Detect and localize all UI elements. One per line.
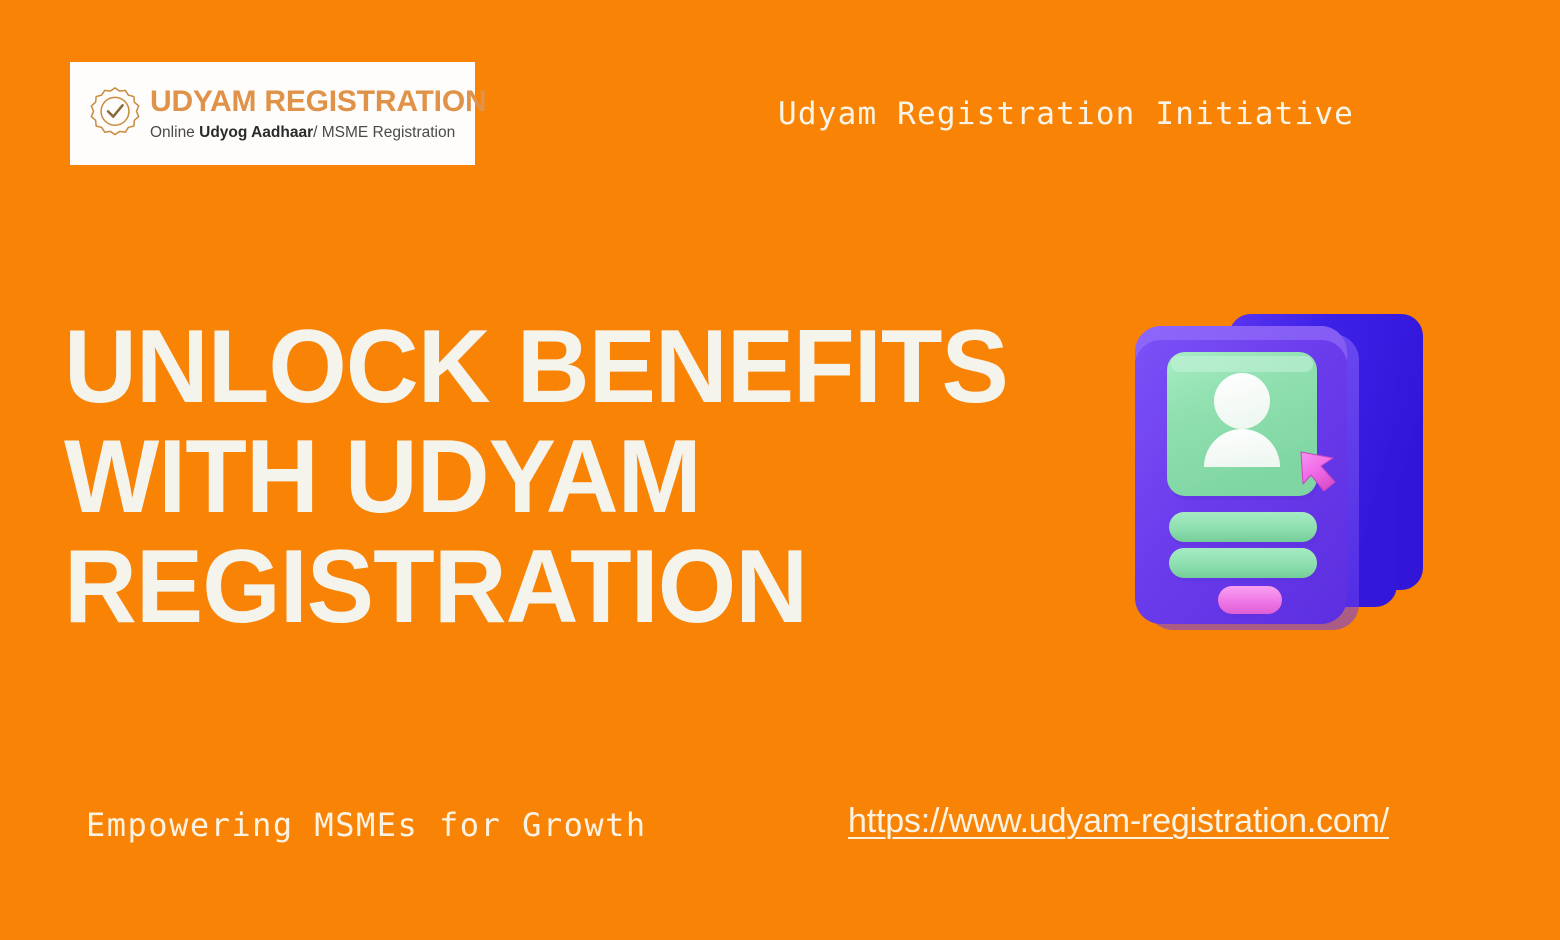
slide-tagline: Empowering MSMEs for Growth [86,806,647,844]
logo-subtitle-bold: Udyog Aadhaar [199,124,313,141]
logo-text-block: UDYAM REGISTRATION Online Udyog Aadhaar/… [150,87,486,141]
logo-subtitle: Online Udyog Aadhaar/ MSME Registration [150,125,486,141]
slide-eyebrow-text: Udyam Registration Initiative [778,96,1354,132]
logo-subtitle-suffix: / MSME Registration [313,124,455,141]
logo-title: UDYAM REGISTRATION [150,87,486,117]
id-card-action-button [1218,586,1284,618]
headline-line-3: REGISTRATION [64,532,1034,642]
verified-check-badge-icon [86,85,144,143]
headline-line-2: WITH UDYAM [64,422,1034,532]
slide-headline: UNLOCK BENEFITS WITH UDYAM REGISTRATION [64,312,1064,642]
stacked-id-cards-3d-illustration [1125,288,1445,648]
presentation-slide: UDYAM REGISTRATION Online Udyog Aadhaar/… [0,0,1560,940]
logo-subtitle-prefix: Online [150,124,199,141]
headline-line-1: UNLOCK BENEFITS [64,312,1034,422]
website-url-link[interactable]: https://www.udyam-registration.com/ [848,802,1389,841]
brand-logo-card[interactable]: UDYAM REGISTRATION Online Udyog Aadhaar/… [70,62,475,165]
